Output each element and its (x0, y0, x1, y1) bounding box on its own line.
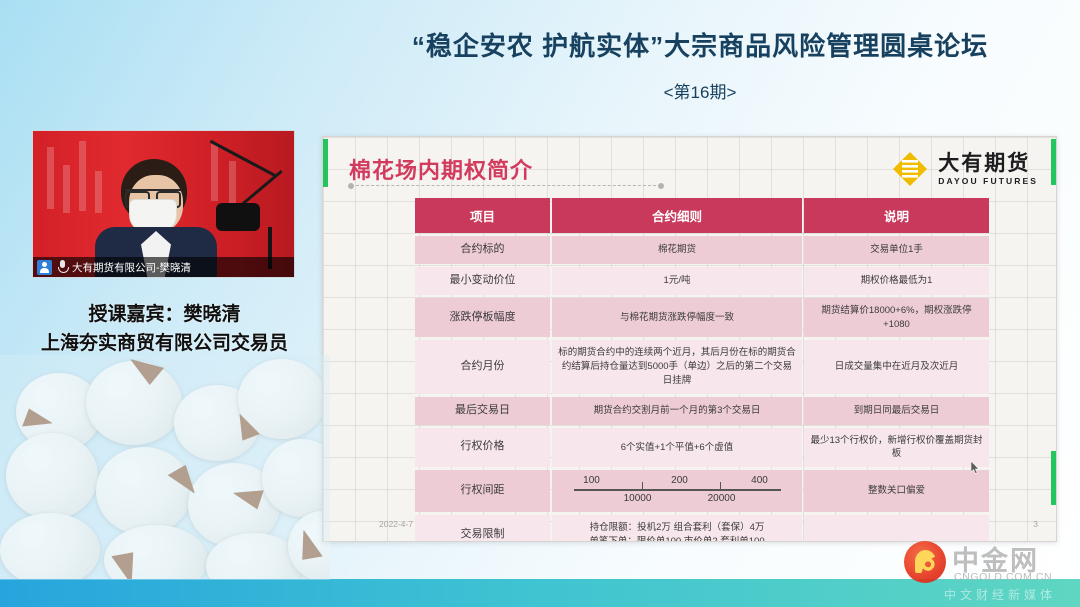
mouse-cursor-icon (971, 461, 980, 475)
cell-item: 最后交易日 (415, 397, 550, 425)
speaker-info: 授课嘉宾：樊晓清 上海夯实商贸有限公司交易员 (22, 300, 307, 359)
cell-note: 交易单位1手 (804, 236, 989, 264)
cell-detail: 与棉花期货涨跌停幅度一致 (552, 298, 802, 338)
watermark-url: CNGOLD.COM.CN (954, 571, 1052, 583)
cell-note: 期货结算价18000+6%，期权涨跌停+1080 (804, 298, 989, 338)
table-row: 合约标的 棉花期货 交易单位1手 (415, 236, 989, 264)
page-title: “稳企安农 护航实体”大宗商品风险管理圆桌论坛 (330, 30, 1070, 63)
strike-interval-axis: 100 200 400 10000 20000 (570, 476, 785, 506)
cell-item: 行权价格 (415, 428, 550, 468)
slide-title: 棉花场内期权简介 (349, 153, 533, 185)
participant-name-bar: 大有期货有限公司-樊晓清 (33, 257, 294, 277)
slide-page-number: 3 (1033, 519, 1038, 529)
logo-chinese-name: 大有期货 (938, 153, 1038, 174)
table-row: 最后交易日 期货合约交割月前一个月的第3个交易日 到期日同最后交易日 (415, 397, 989, 425)
speaker-video-tile[interactable]: 大有期货有限公司-樊晓清 (32, 130, 295, 278)
speaker-name-line: 授课嘉宾：樊晓清 (22, 300, 307, 329)
cell-item: 合约标的 (415, 236, 550, 264)
slide-accent-bar-right-top (1051, 139, 1056, 185)
candlestick-decor (79, 141, 86, 211)
slide-date: 2022-4-7 (379, 519, 413, 529)
table-row: 行权间距 100 200 400 10000 20000 整数关口偏爱 (415, 470, 989, 512)
cell-strike-interval-diagram: 100 200 400 10000 20000 (552, 470, 802, 512)
candlestick-decor (95, 171, 102, 213)
cell-detail: 1元/吨 (552, 267, 802, 295)
watermark: 中金网 CNGOLD.COM.CN 中文财经新媒体 (904, 539, 1072, 601)
table-header-row: 项目 合约细则 说明 (415, 198, 989, 233)
cell-note: 期权价格最低为1 (804, 267, 989, 295)
cngold-logo-icon (904, 541, 946, 583)
slide-accent-bar-left (323, 139, 328, 187)
cell-note: 日成交量集中在近月及次近月 (804, 340, 989, 393)
participant-name: 大有期货有限公司-樊晓清 (72, 260, 191, 275)
axis-label-top: 200 (671, 474, 688, 489)
candlestick-decor (63, 165, 70, 213)
slide-title-rule (351, 185, 661, 186)
studio-microphone (216, 203, 260, 231)
candlestick-decor (229, 161, 236, 205)
cell-detail: 期货合约交割月前一个月的第3个交易日 (552, 397, 802, 425)
cell-item: 涨跌停板幅度 (415, 298, 550, 338)
table-row: 行权价格 6个实值+1个平值+6个虚值 最少13个行权价，新增行权价覆盖期货封板 (415, 428, 989, 468)
candlestick-decor (211, 143, 218, 201)
table-row: 交易限制 持仓限额：投机2万 组合套利（套保）4万 单笔下单：限价单100 市价… (415, 515, 989, 542)
cell-note (804, 515, 989, 542)
table-row: 涨跌停板幅度 与棉花期货涨跌停幅度一致 期货结算价18000+6%，期权涨跌停+… (415, 298, 989, 338)
cell-detail: 标的期货合约中的连续两个近月，其后月份在标的期货合约结算后持仓量达到5000手（… (552, 340, 802, 393)
axis-label-top: 400 (751, 474, 768, 489)
col-header-item: 项目 (415, 198, 550, 233)
axis-label-bottom: 10000 (624, 492, 652, 507)
option-spec-table: 项目 合约细则 说明 合约标的 棉花期货 交易单位1手 最小变动价位 1元/吨 … (413, 195, 991, 542)
presentation-slide[interactable]: 棉花场内期权简介 大有期货 DAYOU FUTURES 项目 合约细则 说明 (322, 136, 1057, 542)
logo-english-name: DAYOU FUTURES (938, 177, 1038, 186)
cell-note: 最少13个行权价，新增行权价覆盖期货封板 (804, 428, 989, 468)
cell-detail: 棉花期货 (552, 236, 802, 264)
watermark-slogan: 中文财经新媒体 (944, 586, 1056, 603)
cell-detail: 持仓限额：投机2万 组合套利（套保）4万 单笔下单：限价单100 市价单2 套利… (552, 515, 802, 542)
slide-accent-bar-right-bottom (1051, 451, 1056, 505)
axis-label-top: 100 (583, 474, 600, 489)
dayou-diamond-icon (890, 149, 930, 189)
microphone-icon (57, 260, 67, 274)
forum-header: “稳企安农 护航实体”大宗商品风险管理圆桌论坛 <第16期> (330, 30, 1070, 103)
col-header-note: 说明 (804, 198, 989, 233)
axis-tick (720, 482, 722, 491)
cell-note: 整数关口偏爱 (804, 470, 989, 512)
axis-tick (642, 482, 644, 491)
company-logo: 大有期货 DAYOU FUTURES (890, 149, 1038, 189)
candlestick-decor (47, 147, 54, 209)
person-icon (37, 260, 52, 275)
cell-item: 交易限制 (415, 515, 550, 542)
cell-note: 到期日同最后交易日 (804, 397, 989, 425)
cotton-photo (0, 355, 330, 580)
logo-wordmark: 大有期货 DAYOU FUTURES (938, 153, 1038, 186)
table-row: 最小变动价位 1元/吨 期权价格最低为1 (415, 267, 989, 295)
cell-item: 最小变动价位 (415, 267, 550, 295)
cell-item: 行权间距 (415, 470, 550, 512)
axis-line (574, 489, 781, 491)
cell-detail: 6个实值+1个平值+6个虚值 (552, 428, 802, 468)
col-header-detail: 合约细则 (552, 198, 802, 233)
episode-subtitle: <第16期> (330, 78, 1070, 103)
axis-label-bottom: 20000 (708, 492, 736, 507)
table-row: 合约月份 标的期货合约中的连续两个近月，其后月份在标的期货合约结算后持仓量达到5… (415, 340, 989, 393)
cell-item: 合约月份 (415, 340, 550, 393)
